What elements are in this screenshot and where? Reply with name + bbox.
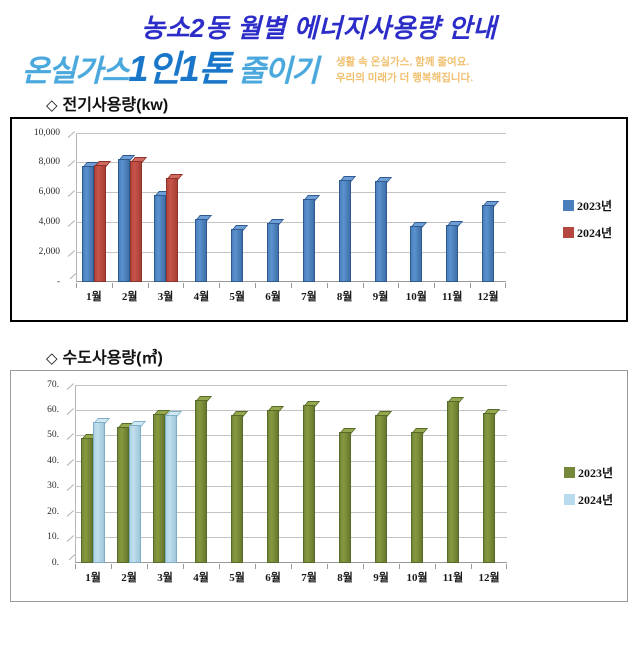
bar-category <box>399 385 435 563</box>
y-tick-label: 10. <box>47 532 59 542</box>
bar-front-face <box>447 401 459 562</box>
bar-category <box>255 133 291 282</box>
axis-tick <box>68 250 75 257</box>
y-tick-label: 60. <box>47 405 59 415</box>
campaign-logo: 온실가스1인1톤 줄이기 <box>22 51 318 87</box>
bar-2023년-12월 <box>482 201 494 281</box>
bar-category <box>327 385 363 563</box>
x-tick-label: 5월 <box>219 288 255 310</box>
legend-electric: 2023년2024년 <box>563 197 612 241</box>
plot-area-electric <box>68 133 506 282</box>
bar-2023년-6월 <box>267 406 279 562</box>
legend-label: 2023년 <box>578 464 613 481</box>
bar-front-face <box>267 410 279 562</box>
axis-tick <box>68 220 75 227</box>
y-tick-label: 6,000 <box>39 187 60 197</box>
x-tick-label: 1월 <box>76 288 112 310</box>
bar-front-face <box>118 159 130 282</box>
section-heading-water: ◇수도사용량(㎥) <box>0 344 638 370</box>
y-axis-water: 0.10.20.30.40.50.60.70. <box>11 385 63 563</box>
campaign-logo-one-b: 1 <box>180 48 199 89</box>
section-heading-electric-label: 전기사용량(kw) <box>63 97 169 114</box>
diamond-icon: ◇ <box>46 97 63 114</box>
bar-2023년-5월 <box>231 411 243 562</box>
x-tick-label: 10월 <box>399 569 435 591</box>
y-tick-label: 2,000 <box>39 247 60 257</box>
axis-tick <box>67 535 74 542</box>
axis-tick <box>67 484 74 491</box>
bar-front-face <box>94 165 106 282</box>
bar-front-face <box>231 229 243 282</box>
axis-tick <box>68 131 75 138</box>
bar-2024년-3월 <box>166 174 178 281</box>
y-tick-label: - <box>57 277 60 287</box>
bar-front-face <box>165 415 177 562</box>
x-tick-label: 12월 <box>470 288 506 310</box>
axis-tick <box>67 510 74 517</box>
bar-front-face <box>339 432 351 563</box>
legend-label: 2023년 <box>577 197 612 214</box>
bar-2023년-7월 <box>303 195 315 281</box>
bar-front-face <box>231 415 243 562</box>
bar-front-face <box>375 415 387 562</box>
x-tick-label: 6월 <box>255 288 291 310</box>
y-tick-label: 20. <box>47 507 59 517</box>
x-tick-label: 11월 <box>435 569 471 591</box>
x-tick-label: 8월 <box>327 288 363 310</box>
bar-2023년-9월 <box>375 177 387 281</box>
campaign-banner: 온실가스1인1톤 줄이기 생활 속 온실가스, 함께 줄여요. 우리의 미래가 … <box>0 43 638 91</box>
tagline-line-1: 생활 속 온실가스, 함께 줄여요. <box>336 55 473 71</box>
bar-category <box>327 133 363 282</box>
bar-2023년-1월 <box>82 162 94 281</box>
bar-category <box>398 133 434 282</box>
campaign-logo-ton: 톤 <box>199 48 231 89</box>
bar-front-face <box>93 422 105 563</box>
x-tick-label: 7월 <box>291 288 327 310</box>
chart-water-usage: 0.10.20.30.40.50.60.70. 1월2월3월4월5월6월7월8월… <box>10 370 628 602</box>
campaign-tagline: 생활 속 온실가스, 함께 줄여요. 우리의 미래가 더 행복해집니다. <box>336 51 473 87</box>
legend-water: 2023년2024년 <box>564 464 613 508</box>
axis-tick <box>67 408 74 415</box>
x-tick-label: 11월 <box>434 288 470 310</box>
y-axis-electric: -2,0004,0006,0008,00010,000 <box>12 133 64 282</box>
bar-category <box>434 133 470 282</box>
chart-spacer <box>0 322 638 344</box>
bar-2023년-12월 <box>483 409 495 563</box>
x-tick-label: 7월 <box>291 569 327 591</box>
bar-front-face <box>195 219 207 282</box>
bar-2023년-2월 <box>118 155 130 282</box>
campaign-logo-one-a: 1 <box>128 48 147 89</box>
x-tick-label: 9월 <box>363 569 399 591</box>
axis-tick <box>67 434 74 441</box>
legend-label: 2024년 <box>578 491 613 508</box>
bar-front-face <box>410 226 422 282</box>
bar-2023년-8월 <box>339 428 351 563</box>
bar-2024년-2월 <box>129 421 141 562</box>
bar-front-face <box>166 178 178 281</box>
y-tick-label: 10,000 <box>34 128 60 138</box>
campaign-logo-in: 인 <box>147 48 179 89</box>
bar-2023년-5월 <box>231 225 243 282</box>
bar-front-face <box>303 199 315 281</box>
bar-front-face <box>375 181 387 281</box>
x-tick-label: 3월 <box>148 288 184 310</box>
bar-front-face <box>446 225 458 282</box>
legend-item-2024년[interactable]: 2024년 <box>564 491 613 508</box>
legend-label: 2024년 <box>577 224 612 241</box>
bar-front-face <box>267 223 279 282</box>
bar-category <box>470 133 506 282</box>
bar-front-face <box>339 180 351 282</box>
bar-category <box>363 133 399 282</box>
x-tick-label: 10월 <box>398 288 434 310</box>
x-tick-label: 5월 <box>219 569 255 591</box>
x-tick-label: 12월 <box>471 569 507 591</box>
bar-2023년-3월 <box>154 191 166 282</box>
legend-swatch-icon <box>564 494 575 505</box>
legend-item-2023년[interactable]: 2023년 <box>564 464 613 481</box>
bar-front-face <box>482 205 494 281</box>
legend-swatch-icon <box>563 227 574 238</box>
bar-category <box>291 133 327 282</box>
x-tick-label: 3월 <box>147 569 183 591</box>
axis-tick <box>67 459 74 466</box>
bar-category <box>291 385 327 563</box>
bar-category <box>363 385 399 563</box>
bar-category <box>112 133 148 282</box>
campaign-logo-suffix: 줄이기 <box>238 55 318 88</box>
bar-category <box>76 133 112 282</box>
bar-front-face <box>81 438 93 562</box>
x-tick-label: 8월 <box>327 569 363 591</box>
legend-swatch-icon <box>564 467 575 478</box>
bar-2023년-1월 <box>81 434 93 562</box>
x-tick-label: 6월 <box>255 569 291 591</box>
diamond-icon: ◇ <box>46 350 63 367</box>
section-heading-electric: ◇전기사용량(kw) <box>0 91 638 117</box>
axis-tick <box>68 190 75 197</box>
bar-front-face <box>411 432 423 563</box>
x-axis-electric: 1월2월3월4월5월6월7월8월9월10월11월12월 <box>76 288 506 310</box>
bar-2023년-11월 <box>447 397 459 562</box>
bar-category <box>183 133 219 282</box>
bar-front-face <box>195 400 207 563</box>
bar-2023년-10월 <box>411 428 423 563</box>
bar-category <box>219 385 255 563</box>
legend-item-2023년[interactable]: 2023년 <box>563 197 612 214</box>
y-tick-label: 40. <box>47 456 59 466</box>
bar-category <box>148 133 184 282</box>
bar-2023년-6월 <box>267 219 279 282</box>
bar-front-face <box>154 195 166 282</box>
bar-category <box>183 385 219 563</box>
axis-tick <box>68 160 75 167</box>
bar-2024년-1월 <box>93 418 105 563</box>
x-tick-label: 2월 <box>112 288 148 310</box>
y-tick-label: 30. <box>47 481 59 491</box>
bar-2023년-3월 <box>153 410 165 563</box>
bar-category <box>255 385 291 563</box>
chart-electric-usage: -2,0004,0006,0008,00010,000 1월2월3월4월5월6월… <box>10 117 628 322</box>
bar-front-face <box>303 405 315 562</box>
bar-group-electric <box>76 133 506 282</box>
bar-2023년-4월 <box>195 396 207 563</box>
bar-category <box>111 385 147 563</box>
x-axis-water: 1월2월3월4월5월6월7월8월9월10월11월12월 <box>75 569 507 591</box>
legend-item-2024년[interactable]: 2024년 <box>563 224 612 241</box>
plot-area-water <box>67 385 507 563</box>
x-tick-label: 4월 <box>183 569 219 591</box>
bar-front-face <box>130 161 142 281</box>
bar-front-face <box>153 414 165 563</box>
x-tick-label: 2월 <box>111 569 147 591</box>
bar-2024년-2월 <box>130 157 142 281</box>
bar-2024년-3월 <box>165 411 177 562</box>
y-tick-label: 70. <box>47 380 59 390</box>
bar-2023년-4월 <box>195 215 207 282</box>
y-tick-label: 0. <box>52 558 59 568</box>
bar-2023년-11월 <box>446 221 458 282</box>
tagline-line-2: 우리의 미래가 더 행복해집니다. <box>336 71 473 87</box>
legend-swatch-icon <box>563 200 574 211</box>
bar-category <box>75 385 111 563</box>
x-tick-label: 1월 <box>75 569 111 591</box>
y-tick-label: 8,000 <box>39 157 60 167</box>
bar-2024년-1월 <box>94 161 106 282</box>
bar-front-face <box>483 413 495 563</box>
bar-front-face <box>129 425 141 562</box>
bar-front-face <box>117 427 129 563</box>
bar-front-face <box>82 166 94 281</box>
y-tick-label: 4,000 <box>39 217 60 227</box>
bar-2023년-7월 <box>303 401 315 562</box>
bar-category <box>435 385 471 563</box>
bar-group-water <box>75 385 507 563</box>
x-tick-label: 4월 <box>183 288 219 310</box>
bar-2023년-9월 <box>375 411 387 562</box>
y-tick-label: 50. <box>47 430 59 440</box>
bar-category <box>471 385 507 563</box>
bar-2023년-10월 <box>410 222 422 282</box>
page-title: 농소2동 월별 에너지사용량 안내 <box>0 0 638 43</box>
bar-category <box>147 385 183 563</box>
campaign-logo-prefix: 온실가스 <box>22 55 128 88</box>
bar-category <box>219 133 255 282</box>
bar-2023년-8월 <box>339 176 351 282</box>
axis-tick <box>67 383 74 390</box>
bar-2023년-2월 <box>117 423 129 563</box>
section-heading-water-label: 수도사용량(㎥) <box>63 350 163 367</box>
x-tick-label: 9월 <box>363 288 399 310</box>
